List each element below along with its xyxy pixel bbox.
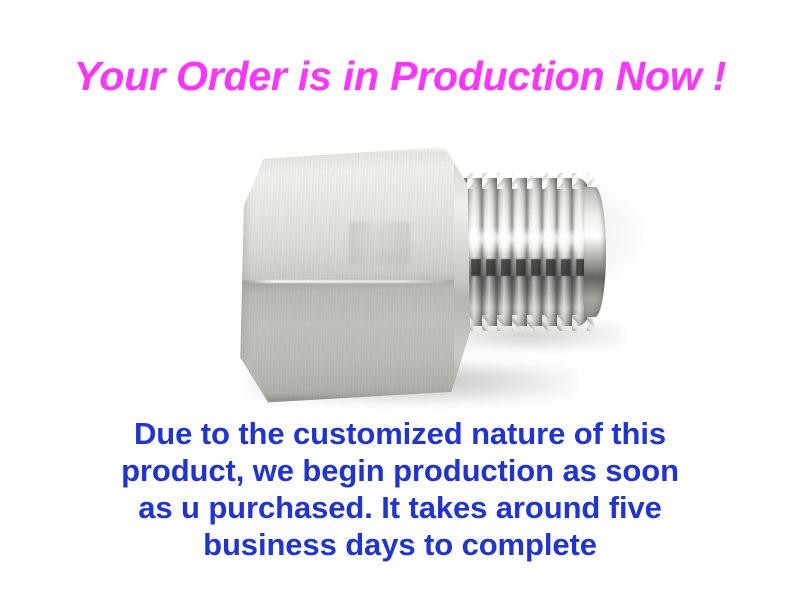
hex-right-end-face [454, 159, 470, 390]
thread-cylinder [452, 178, 600, 326]
thread-root-shadow [456, 259, 596, 276]
hex-bottom-bevel [252, 394, 452, 402]
thread-open-end-face [584, 187, 606, 317]
promo-banner: Your Order is in Production Now ! [0, 0, 800, 600]
hex-stamped-mark [349, 222, 409, 264]
thread-crests-top [452, 173, 602, 189]
product-photo [0, 115, 800, 415]
page-title: Your Order is in Production Now ! [0, 50, 800, 102]
notice-line-4: business days to complete [60, 526, 740, 563]
hex-top-bevel [252, 146, 456, 153]
hex-body [238, 143, 470, 405]
notice-line-1: Due to the customized nature of this [60, 415, 740, 452]
hex-lower-face [238, 282, 470, 405]
notice-text: Due to the customized nature of this pro… [60, 415, 740, 563]
notice-line-3: as u purchased. It takes around five [60, 489, 740, 526]
hex-face-edge [240, 280, 467, 283]
threaded-end [452, 173, 604, 331]
thread-crests-bottom [452, 315, 602, 331]
hex-left-chamfer [239, 190, 251, 358]
hex-body-silhouette [238, 143, 470, 405]
thread-specular-band [454, 227, 596, 251]
notice-line-2: product, we begin production as soon [60, 452, 740, 489]
